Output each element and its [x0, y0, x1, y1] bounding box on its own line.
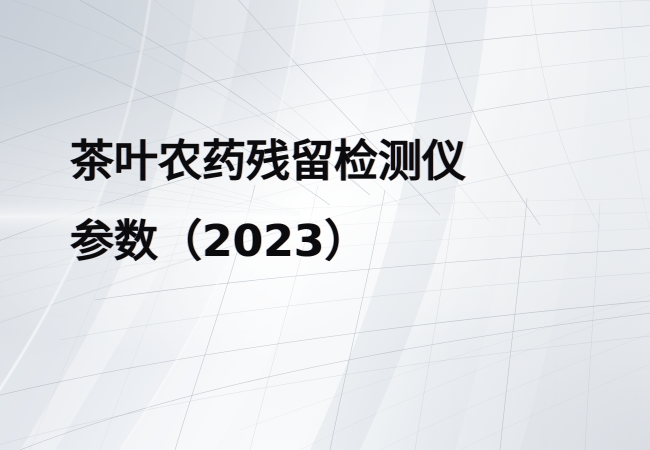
title-line-1: 茶叶农药残留检测仪: [70, 122, 466, 202]
title-line-2: 参数（2023）: [70, 202, 466, 282]
banner-image: 茶叶农药残留检测仪 参数（2023）: [0, 0, 650, 450]
banner-title: 茶叶农药残留检测仪 参数（2023）: [70, 122, 466, 282]
